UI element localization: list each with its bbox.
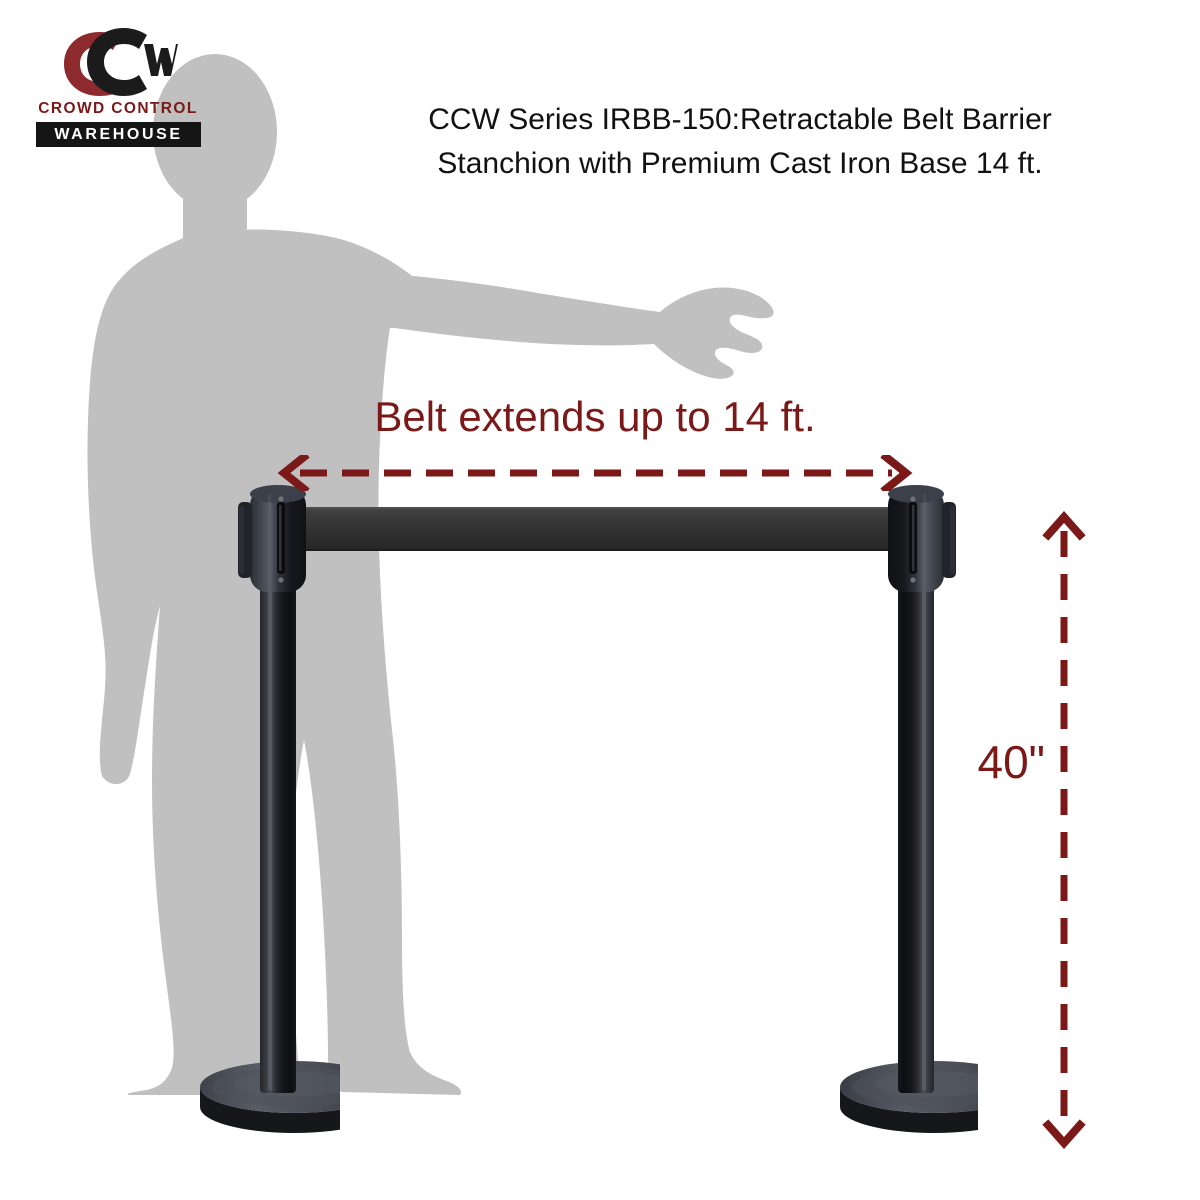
height-dimension-arrow (1030, 505, 1100, 1155)
belt-length-dimension-arrow (270, 455, 920, 491)
logo-text-warehouse: WAREHOUSE (36, 122, 201, 147)
stanchion-left (200, 480, 340, 1160)
title-line-1: CCW Series IRBB-150:Retractable Belt Bar… (330, 98, 1150, 142)
page-title: CCW Series IRBB-150:Retractable Belt Bar… (330, 98, 1150, 186)
stanchion-right (838, 480, 978, 1160)
post-tube (260, 540, 296, 1093)
logo-text-crowd-control: CROWD CONTROL (28, 100, 208, 118)
belt-cassette-head (888, 485, 956, 592)
retractable-belt (283, 507, 913, 551)
title-line-2: Stanchion with Premium Cast Iron Base 14… (330, 142, 1150, 186)
belt-length-label: Belt extends up to 14 ft. (275, 393, 915, 441)
brand-logo: CROWD CONTROL WAREHOUSE (28, 26, 208, 146)
post-tube (898, 540, 934, 1093)
belt-cassette-head (238, 485, 306, 592)
human-scale-silhouette (60, 40, 800, 1095)
arrowhead-down (1048, 1125, 1080, 1143)
logo-warehouse-bar: WAREHOUSE (36, 122, 201, 147)
ccw-monogram-icon (58, 26, 178, 98)
product-diagram-canvas: Belt extends up to 14 ft. 40" CCW Series… (0, 0, 1200, 1200)
